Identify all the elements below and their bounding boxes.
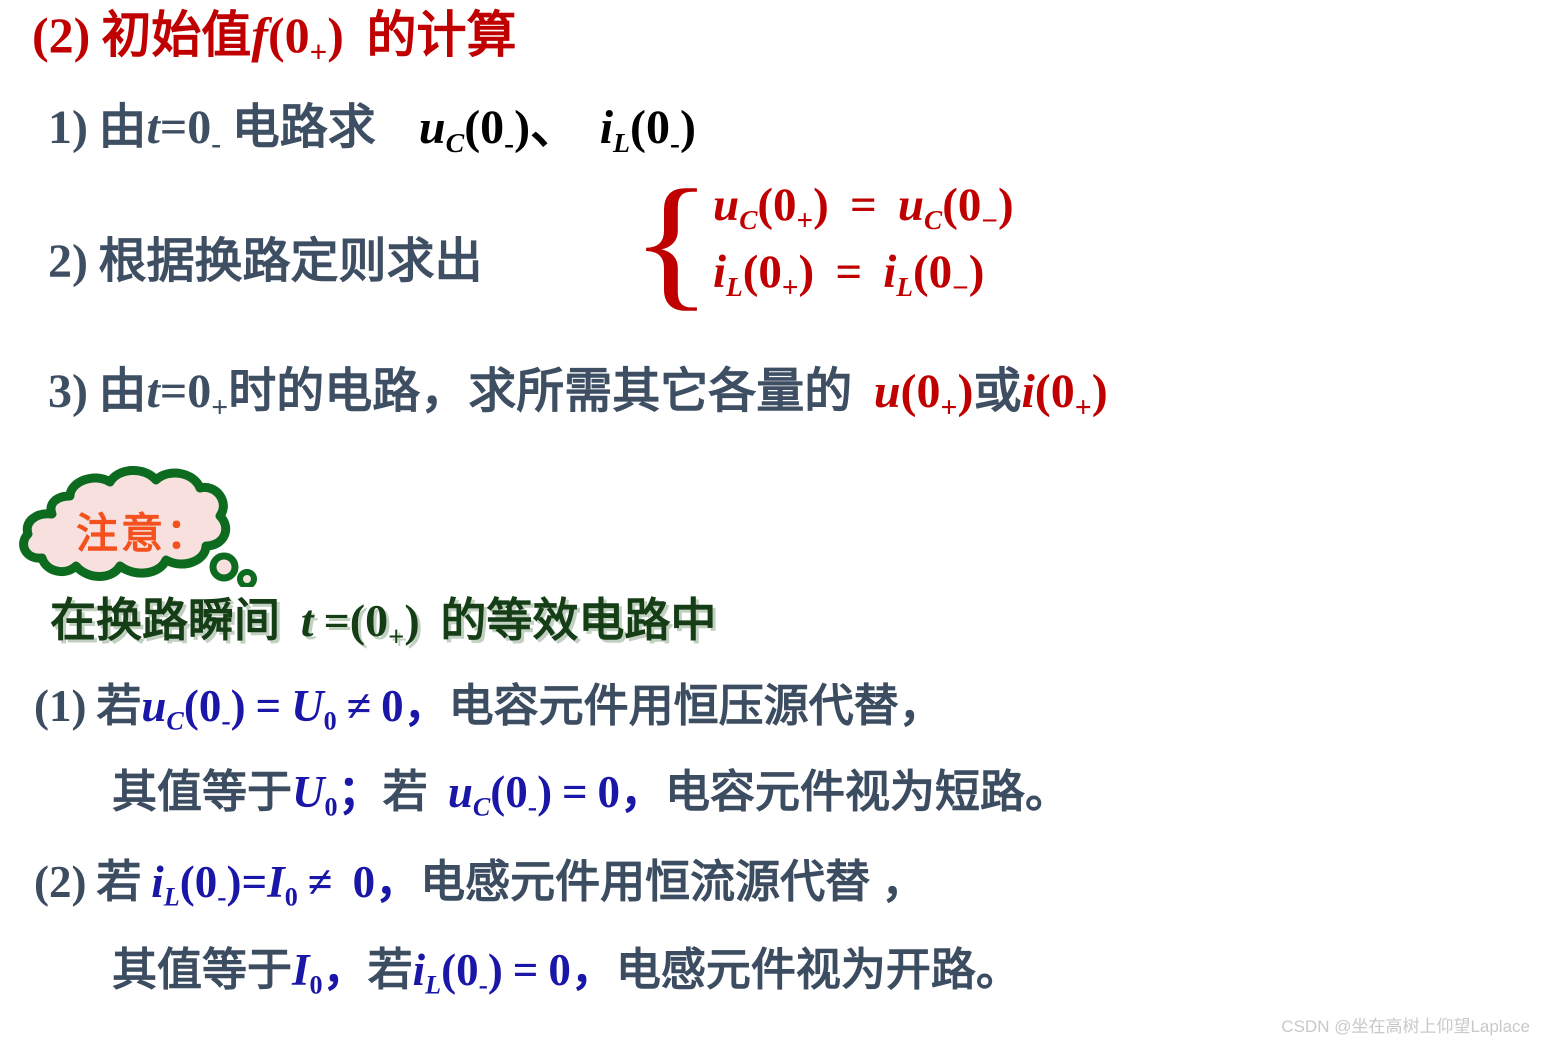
case-1-l2-semicolon: ；: [338, 767, 383, 817]
eq2-lhs-zero: 0: [758, 246, 782, 298]
case-1-ruo: 若: [96, 681, 141, 731]
green-sign: +: [388, 624, 404, 653]
eq1-rhs-paren-open: (: [942, 179, 958, 231]
step-1-formula1-paren-open: (: [464, 101, 480, 154]
step-3-formula1-symbol: u: [874, 365, 901, 418]
eq1-lhs-symbol: u: [713, 179, 739, 231]
case-2-l2-comma-2: ，: [571, 945, 616, 995]
step-3-equals: =: [160, 365, 187, 418]
case-1-relation-2: ≠: [347, 681, 372, 731]
step-1-formula2-subscript: L: [613, 128, 630, 159]
case-1-formula-subscript: C: [166, 707, 183, 736]
case-1-l2-formula-paren-open: (: [490, 767, 505, 817]
case-2-formula-paren-close: ): [227, 857, 242, 907]
case-2-l2-relation: =: [513, 945, 539, 995]
eq2-lhs-paren-open: (: [743, 246, 759, 298]
step-3-var-t: t: [147, 365, 160, 418]
case-1-tail-text: 电容元件用恒压源代替，: [449, 681, 944, 731]
case-1-value-subscript: 0: [324, 707, 337, 736]
case-2-formula-symbol: i: [151, 857, 164, 907]
case-2-l2-zero: 0: [548, 945, 571, 995]
step-1-formula1-paren-close: ): [514, 101, 530, 154]
eq1-rhs-zero: 0: [958, 179, 982, 231]
case-2-relation-1: =: [242, 857, 268, 907]
step-3-formula2-symbol: i: [1021, 365, 1034, 418]
page-title: (2)初始值f(0+)的计算: [32, 10, 516, 66]
case-2-formula-sign: -: [217, 884, 226, 912]
green-equals: =: [324, 595, 350, 646]
case-1-l2-comma: ，: [620, 767, 665, 817]
eq2-rhs-paren-open: (: [913, 246, 929, 298]
case-1-line-2: 其值等于U0；若uC(0-)=0，电容元件视为短路。: [112, 770, 1070, 821]
step-1-formula2-symbol: i: [600, 101, 613, 154]
title-function-symbol: f: [251, 7, 268, 63]
case-2-formula-paren-open: (: [180, 857, 195, 907]
step-1-formula1-sign: -: [504, 129, 514, 159]
case-1-formula-symbol: u: [141, 681, 166, 731]
step-3-formula1-zero: 0: [917, 365, 941, 418]
continuity-equation-capacitor: uC(0+)=uC(0−): [713, 182, 1014, 235]
case-2-zero-2: 0: [353, 857, 376, 907]
case-2-l2-comma-1: ，: [323, 945, 368, 995]
eq1-lhs-paren-close: ): [813, 179, 829, 231]
step-3-formula2-zero: 0: [1051, 365, 1075, 418]
case-1-l2-formula-subscript: C: [473, 793, 490, 822]
case-1-formula-paren-close: ): [231, 681, 246, 731]
eq2-lhs-symbol: i: [713, 246, 726, 298]
case-2-formula-zero: 0: [195, 857, 218, 907]
continuity-equation-inductor: iL(0+)=iL(0−): [713, 249, 1014, 302]
case-2-l2-formula-paren-close: ): [488, 945, 503, 995]
step-1-formula2-paren-close: ): [680, 101, 696, 154]
case-2-l2-formula-sign: -: [479, 972, 488, 1000]
title-text-after: 的计算: [366, 7, 516, 63]
title-number: (2): [32, 7, 90, 63]
step-3-line: 3)由t=0+时的电路，求所需其它各量的u(0+)或i(0+): [48, 368, 1108, 422]
eq1-relation: =: [850, 179, 877, 231]
eq1-lhs-sign: +: [797, 207, 814, 236]
case-2-l2-formula-subscript: L: [425, 971, 441, 1000]
eq2-rhs-symbol: i: [883, 246, 896, 298]
title-arg-sign: +: [310, 37, 328, 68]
case-1-l2-value: U: [292, 767, 325, 817]
continuity-equations-block: { uC(0+)=uC(0−) iL(0+)=iL(0−): [636, 182, 1014, 302]
step-2-line: 2)根据换路定则求出: [48, 238, 483, 286]
step-1-equals: =: [160, 101, 187, 154]
step-3-formula1-sign: +: [941, 393, 958, 423]
green-text-a: 在换路瞬间: [50, 595, 280, 646]
note-label: 注意：: [76, 500, 211, 561]
case-1-l2-zero: 0: [598, 767, 621, 817]
title-paren-open: (: [268, 7, 285, 63]
case-1-l2-formula-sign: -: [528, 794, 537, 822]
case-1-l2-text-a: 其值等于: [112, 767, 292, 817]
case-2-l2-formula-paren-open: (: [441, 945, 456, 995]
slide-canvas: (2)初始值f(0+)的计算 1)由t=0-电路求uC(0-)、iL(0-) 2…: [0, 0, 1542, 1045]
case-2-l2-value: I: [292, 945, 310, 995]
case-2-value-subscript: 0: [285, 883, 298, 912]
step-3-sign: +: [211, 393, 228, 423]
eq2-rhs-subscript: L: [896, 272, 913, 302]
step-3-text-b: 时的电路，求所需其它各量的: [228, 365, 852, 418]
case-2-value: I: [267, 857, 285, 907]
case-1-formula-zero: 0: [199, 681, 222, 731]
case-2-l2-tail-text: 电感元件视为开路。: [616, 945, 1021, 995]
case-1-l2-value-subscript: 0: [325, 793, 338, 822]
step-3-formula2-sign: +: [1075, 393, 1092, 423]
green-var-t: t: [301, 595, 314, 646]
step-3-text-a: 由: [99, 365, 147, 418]
curly-brace-icon: {: [631, 189, 713, 296]
step-1-sign: -: [211, 129, 221, 159]
title-text-before: 初始值: [101, 7, 251, 63]
step-3-zero: 0: [187, 365, 211, 418]
step-1-line: 1)由t=0-电路求uC(0-)、iL(0-): [48, 104, 696, 158]
case-1-marker: (1): [34, 681, 86, 731]
title-arg-zero: 0: [285, 7, 310, 63]
case-2-marker: (2): [34, 857, 86, 907]
case-1-l2-relation: =: [562, 767, 588, 817]
case-1-l2-formula-paren-close: ): [537, 767, 552, 817]
case-2-line-1: (2)若iL(0-)=I0≠0，电感元件用恒流源代替 ，: [34, 860, 926, 911]
step-1-formula2-zero: 0: [646, 101, 670, 154]
case-2-l2-ruo: 若: [368, 945, 413, 995]
step-2-text-a: 根据换路定则求出: [99, 235, 483, 288]
case-2-line-2: 其值等于I0，若iL(0-)=0，电感元件视为开路。: [112, 948, 1021, 999]
csdn-watermark: CSDN @坐在高树上仰望Laplace: [1281, 1012, 1530, 1037]
eq2-lhs-sign: +: [782, 274, 799, 303]
cloud-tail-bubble-large: [213, 556, 235, 578]
eq1-lhs-paren-open: (: [757, 179, 773, 231]
green-text-b: 的等效电路中: [440, 595, 716, 646]
step-1-marker: 1): [48, 101, 88, 154]
step-3-formula2-paren-close: ): [1092, 365, 1108, 418]
eq2-lhs-paren-close: ): [799, 246, 815, 298]
step-1-formula1-symbol: u: [419, 101, 446, 154]
case-1-comma: ，: [404, 681, 449, 731]
step-3-text-or: 或: [973, 365, 1021, 418]
case-1-formula-sign: -: [221, 708, 230, 736]
case-1-formula-paren-open: (: [184, 681, 199, 731]
step-1-formula1-zero: 0: [480, 101, 504, 154]
green-zero: 0: [365, 595, 388, 646]
eq1-rhs-symbol: u: [898, 179, 924, 231]
case-2-comma: ，: [375, 857, 420, 907]
green-paren-open: (: [350, 595, 365, 646]
case-1-zero-2: 0: [381, 681, 404, 731]
eq2-rhs-zero: 0: [929, 246, 953, 298]
step-1-separator: 、: [530, 101, 578, 154]
case-1-l2-formula-symbol: u: [448, 767, 473, 817]
eq1-rhs-sign: −: [981, 207, 998, 236]
step-3-formula1-paren-close: ): [957, 365, 973, 418]
eq2-rhs-paren-close: ): [969, 246, 985, 298]
green-heading: 在换路瞬间t=(0+)的等效电路中: [50, 598, 716, 651]
step-3-marker: 3): [48, 365, 88, 418]
case-1-l2-ruo: 若: [383, 767, 428, 817]
cloud-tail-bubble-small: [240, 572, 254, 586]
case-1-line-1: (1)若uC(0-)=U0≠0，电容元件用恒压源代替，: [34, 684, 944, 735]
step-1-formula2-paren-open: (: [630, 101, 646, 154]
title-paren-close: ): [327, 7, 344, 63]
step-1-var-t: t: [147, 101, 160, 154]
eq1-lhs-zero: 0: [773, 179, 797, 231]
green-paren-close: ): [404, 595, 419, 646]
eq2-lhs-subscript: L: [726, 272, 743, 302]
case-1-value: U: [291, 681, 324, 731]
case-1-relation-1: =: [256, 681, 282, 731]
step-1-text-a: 由: [99, 101, 147, 154]
eq1-rhs-subscript: C: [924, 205, 942, 235]
case-2-relation-2: ≠: [308, 857, 333, 907]
case-1-l2-tail-text: 电容元件视为短路。: [665, 767, 1070, 817]
step-2-marker: 2): [48, 235, 88, 288]
eq2-rhs-sign: −: [952, 274, 969, 303]
step-3-formula2-paren-open: (: [1035, 365, 1051, 418]
step-3-formula1-paren-open: (: [901, 365, 917, 418]
eq1-rhs-paren-close: ): [998, 179, 1014, 231]
case-2-l2-formula-symbol: i: [413, 945, 426, 995]
step-1-formula2-sign: -: [670, 129, 680, 159]
step-1-text-b: 电路求: [232, 101, 376, 154]
eq2-relation: =: [835, 246, 862, 298]
case-2-l2-value-subscript: 0: [310, 971, 323, 1000]
case-1-l2-formula-zero: 0: [505, 767, 528, 817]
case-2-ruo: 若: [96, 857, 141, 907]
step-1-zero: 0: [187, 101, 211, 154]
case-2-formula-subscript: L: [164, 883, 180, 912]
eq1-lhs-subscript: C: [739, 205, 757, 235]
step-1-formula1-subscript: C: [446, 128, 465, 159]
case-2-l2-formula-zero: 0: [456, 945, 479, 995]
case-2-l2-text-a: 其值等于: [112, 945, 292, 995]
case-2-tail-text: 电感元件用恒流源代替 ，: [420, 857, 926, 907]
